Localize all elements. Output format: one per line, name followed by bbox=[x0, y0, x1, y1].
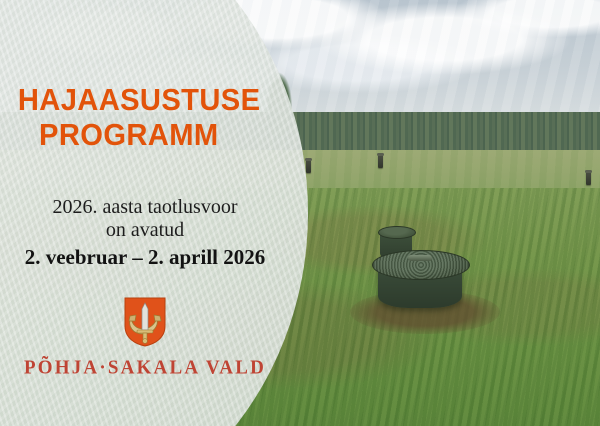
field-post bbox=[378, 155, 383, 168]
headline-line-2: PROGRAMM bbox=[0, 117, 273, 152]
municipality-logo: PÕHJA·SAKALA VALD bbox=[0, 296, 290, 379]
announcement-line-2: on avatud bbox=[0, 219, 290, 242]
field-post bbox=[306, 160, 311, 173]
headline-line-1: HAJAASUSTUSE bbox=[0, 82, 273, 117]
poster-content: HAJAASUSTUSE PROGRAMM 2026. aasta taotlu… bbox=[0, 0, 300, 426]
announcement-line-1: 2026. aasta taotlusvoor bbox=[0, 196, 290, 219]
announcement-text: 2026. aasta taotlusvoor on avatud 2. vee… bbox=[0, 196, 290, 271]
logotype-text: PÕHJA·SAKALA VALD bbox=[0, 356, 290, 379]
tank-lid-handle bbox=[408, 255, 432, 261]
septic-tank-lid-small bbox=[378, 226, 416, 239]
coat-of-arms-icon bbox=[123, 296, 167, 348]
page-title: HAJAASUSTUSE PROGRAMM bbox=[0, 82, 273, 152]
application-period: 2. veebruar – 2. aprill 2026 bbox=[0, 244, 290, 271]
field-post bbox=[586, 172, 591, 185]
poster: HAJAASUSTUSE PROGRAMM 2026. aasta taotlu… bbox=[0, 0, 600, 426]
